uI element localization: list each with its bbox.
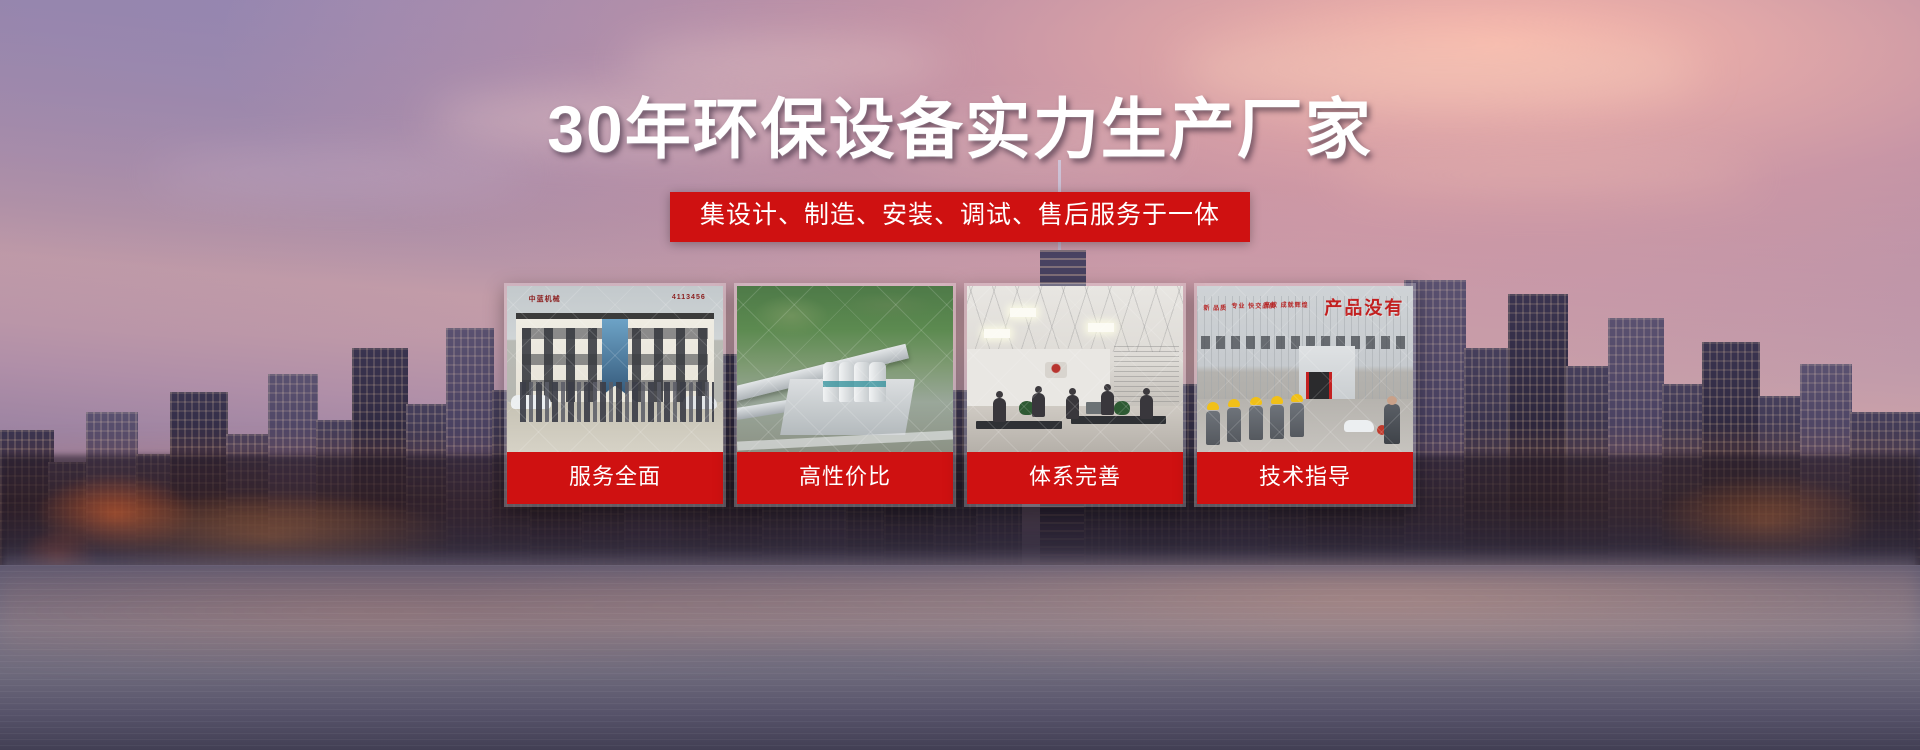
card-caption: 服务全面	[507, 452, 723, 504]
feature-card[interactable]: 体系完善	[964, 283, 1186, 507]
wall-slogan-small: 新 品质	[1203, 306, 1227, 313]
wall-logo	[1045, 362, 1067, 378]
parked-car	[1344, 420, 1374, 432]
ceiling-light	[984, 329, 1010, 338]
hero-banner: 30年环保设备实力生产厂家 集设计、制造、安装、调试、售后服务于一体 中蓝机械 …	[0, 0, 1920, 750]
ceiling-light	[1010, 308, 1036, 317]
ceiling-light	[1088, 323, 1114, 332]
staff-lineup	[520, 382, 714, 422]
subtitle-text: 集设计、制造、安装、调试、售后服务于一体	[700, 202, 1220, 230]
card-image-factory-workers[interactable]: 产品没有 新 品质 专业 快交品质 高效 成就辉煌	[1197, 286, 1413, 452]
worker-with-helmet	[1227, 408, 1241, 442]
card-image-office-interior[interactable]	[967, 286, 1183, 452]
office-worker	[1140, 395, 1153, 419]
card-image-plant-aerial[interactable]	[737, 286, 953, 452]
subtitle-banner: 集设计、制造、安装、调试、售后服务于一体	[670, 192, 1250, 242]
office-worker	[1066, 395, 1079, 419]
feature-card[interactable]: 中蓝机械 4113456 服务全面	[504, 283, 726, 507]
monitor	[1086, 402, 1102, 414]
office-worker	[1032, 393, 1045, 417]
worker-with-helmet	[1270, 405, 1284, 439]
worker-with-helmet	[1290, 403, 1304, 437]
wall-slogan-small: 高效 成就辉煌	[1264, 303, 1309, 310]
workshop-door	[1309, 372, 1328, 402]
feature-card-list: 中蓝机械 4113456 服务全面	[504, 283, 1416, 507]
supervisor	[1384, 404, 1400, 444]
office-worker	[1101, 391, 1114, 415]
ceiling-grid	[967, 286, 1183, 352]
potted-plant	[1114, 401, 1130, 415]
card-image-office-building[interactable]: 中蓝机械 4113456	[507, 286, 723, 452]
desk	[976, 421, 1062, 429]
worker-with-helmet	[1206, 411, 1220, 445]
feature-card[interactable]: 产品没有 新 品质 专业 快交品质 高效 成就辉煌	[1194, 283, 1416, 507]
wall-slogan-main: 产品没有	[1324, 294, 1404, 320]
card-caption: 技术指导	[1197, 452, 1413, 504]
card-caption: 体系完善	[967, 452, 1183, 504]
feature-card[interactable]: 高性价比	[734, 283, 956, 507]
storage-silo	[869, 362, 886, 402]
page-title: 30年环保设备实力生产厂家	[0, 96, 1920, 162]
worker-with-helmet	[1249, 406, 1263, 440]
card-caption: 高性价比	[737, 452, 953, 504]
office-worker	[993, 398, 1006, 422]
company-signage: 中蓝机械	[529, 294, 561, 304]
phone-number-signage: 4113456	[672, 294, 706, 301]
